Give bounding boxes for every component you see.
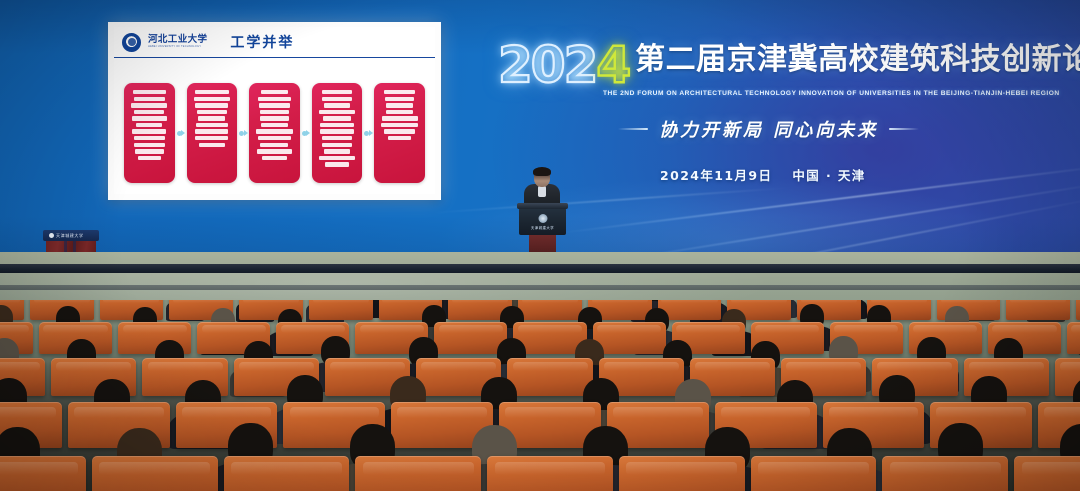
banner-date: 2024年11月9日 xyxy=(660,168,772,183)
slide-flow-card xyxy=(187,83,238,183)
slide-card-text-line xyxy=(194,97,230,101)
banner-subline: THE 2ND FORUM ON ARCHITECTURAL TECHNOLOG… xyxy=(603,90,1058,97)
auditorium-seat xyxy=(1014,456,1080,491)
banner-slogan: 协力开新局 同心向未来 xyxy=(659,116,878,142)
slide-card-text-line xyxy=(323,116,351,120)
speaker-hair xyxy=(533,167,551,176)
university-name: 河北工业大学 HEBEI UNIVERSITY OF TECHNOLOGY xyxy=(148,35,207,49)
slide-card-text-line xyxy=(322,97,352,101)
slide-card-text-line xyxy=(198,116,225,120)
projected-slide: 河北工业大学 HEBEI UNIVERSITY OF TECHNOLOGY 工学… xyxy=(108,22,441,200)
slide-card-text-line xyxy=(132,129,166,133)
slide-card-text-line xyxy=(134,136,165,140)
slide-flow-card xyxy=(312,83,363,183)
banner-year-green: 4 xyxy=(596,36,629,94)
slide-card-text-line xyxy=(132,116,167,120)
auditorium-seat xyxy=(92,456,218,491)
slide-card-text-line xyxy=(260,143,288,147)
stage-front-edge xyxy=(0,264,1080,273)
slide-card-text-line xyxy=(385,97,414,101)
slide-card-text-line xyxy=(131,103,167,107)
banner-headline: 第二届京津冀高校建筑科技创新论坛 xyxy=(635,44,1080,76)
podium-top xyxy=(517,203,568,209)
slide-card-text-line xyxy=(135,149,163,153)
slide-card-text-line xyxy=(324,103,350,107)
slide-card-text-line xyxy=(133,90,165,94)
slide-card-text-line xyxy=(195,136,228,140)
slide-card-text-line xyxy=(384,90,415,94)
slide-flow-card xyxy=(374,83,425,183)
university-seal-icon xyxy=(122,33,141,52)
slide-card-text-line xyxy=(261,90,287,94)
slide-card-text-line xyxy=(319,110,354,114)
podium-front-panel: 天津城建大学 xyxy=(519,208,566,235)
podium-label: 天津城建大学 xyxy=(519,225,566,230)
slide-card-text-line xyxy=(319,156,355,160)
slide-card-text-line xyxy=(386,103,414,107)
flow-arrow-icon xyxy=(300,128,312,138)
slide-card-text-line xyxy=(260,110,290,114)
slide-card-text-line xyxy=(197,110,227,114)
slide-card-text-line xyxy=(260,116,289,120)
slide-card-text-line xyxy=(258,97,290,101)
slide-card-text-line xyxy=(136,123,162,127)
banner-year: 2024 xyxy=(498,42,629,88)
slide-card-text-line xyxy=(384,129,414,133)
slide-card-text-line xyxy=(259,103,290,107)
flow-arrow-icon xyxy=(175,128,187,138)
slide-title: 工学并举 xyxy=(230,32,294,52)
lectern-label: 天津城建大学 xyxy=(56,233,84,239)
slide-card-text-line xyxy=(261,123,288,127)
auditorium-seat xyxy=(355,456,481,491)
lectern-top: 天津城建大学 xyxy=(43,230,99,241)
speaker-shirt xyxy=(538,186,546,197)
slide-header: 河北工业大学 HEBEI UNIVERSITY OF TECHNOLOGY 工学… xyxy=(114,27,435,58)
slide-card-text-line xyxy=(134,143,165,147)
slide-card-text-line xyxy=(320,123,354,127)
banner-slogan-row: 协力开新局 同心向未来 xyxy=(618,116,1058,142)
conference-photo: 河北工业大学 HEBEI UNIVERSITY OF TECHNOLOGY 工学… xyxy=(0,0,1080,491)
university-name-cn: 河北工业大学 xyxy=(148,35,207,45)
slide-card-text-line xyxy=(134,97,165,101)
slide-card-text-line xyxy=(320,129,353,133)
slogan-dash-right xyxy=(889,128,919,130)
slide-card-text-line xyxy=(322,136,352,140)
banner-location: 中国 · 天津 xyxy=(792,168,865,183)
auditorium-seat xyxy=(224,456,350,491)
slide-card-text-line xyxy=(381,123,418,127)
auditorium-seat xyxy=(882,456,1008,491)
slide-body xyxy=(114,57,435,194)
auditorium-seat xyxy=(751,456,877,491)
slide-card-text-line xyxy=(138,156,162,160)
slide-card-text-line xyxy=(256,129,292,133)
flow-arrow-icon xyxy=(237,128,249,138)
slide-card-text-line xyxy=(262,156,288,160)
stage-lower-edge xyxy=(0,285,1080,290)
auditorium-seat xyxy=(487,456,613,491)
slide-card-text-line xyxy=(199,143,225,147)
slide-card-text-line xyxy=(322,90,352,94)
slide-card-text-line xyxy=(322,143,352,147)
audience-seat-row xyxy=(0,456,1080,491)
audience-seating xyxy=(0,300,1080,491)
slide-card-text-line xyxy=(386,110,413,114)
slide-flow-diagram xyxy=(124,83,425,183)
slide-flow-card xyxy=(249,83,300,183)
slide-card-text-line xyxy=(388,136,411,140)
event-banner: 2024 第二届京津冀高校建筑科技创新论坛 THE 2ND FORUM ON A… xyxy=(498,44,1058,184)
lectern-emblem-icon xyxy=(49,233,54,238)
podium-emblem-icon xyxy=(538,214,547,223)
slide-canvas: 河北工业大学 HEBEI UNIVERSITY OF TECHNOLOGY 工学… xyxy=(114,27,435,194)
banner-year-white: 202 xyxy=(498,36,596,94)
slogan-dash-left xyxy=(618,128,648,130)
auditorium-seat xyxy=(0,456,86,491)
slide-card-text-line xyxy=(134,110,164,114)
university-name-en: HEBEI UNIVERSITY OF TECHNOLOGY xyxy=(148,46,207,49)
slide-flow-card xyxy=(124,83,175,183)
banner-date-location: 2024年11月9日中国 · 天津 xyxy=(660,165,1058,184)
slide-card-text-line xyxy=(324,149,350,153)
slide-card-text-line xyxy=(195,129,228,133)
flow-arrow-icon xyxy=(362,128,374,138)
slide-card-text-line xyxy=(195,103,228,107)
slide-card-text-line xyxy=(325,162,349,166)
slide-card-text-line xyxy=(257,149,292,153)
slide-card-text-line xyxy=(195,90,229,94)
slide-card-text-line xyxy=(196,123,228,127)
banner-title-row: 2024 第二届京津冀高校建筑科技创新论坛 xyxy=(498,44,1058,88)
slide-card-text-line xyxy=(258,136,290,140)
slide-card-text-line xyxy=(382,116,418,120)
auditorium-seat xyxy=(619,456,745,491)
